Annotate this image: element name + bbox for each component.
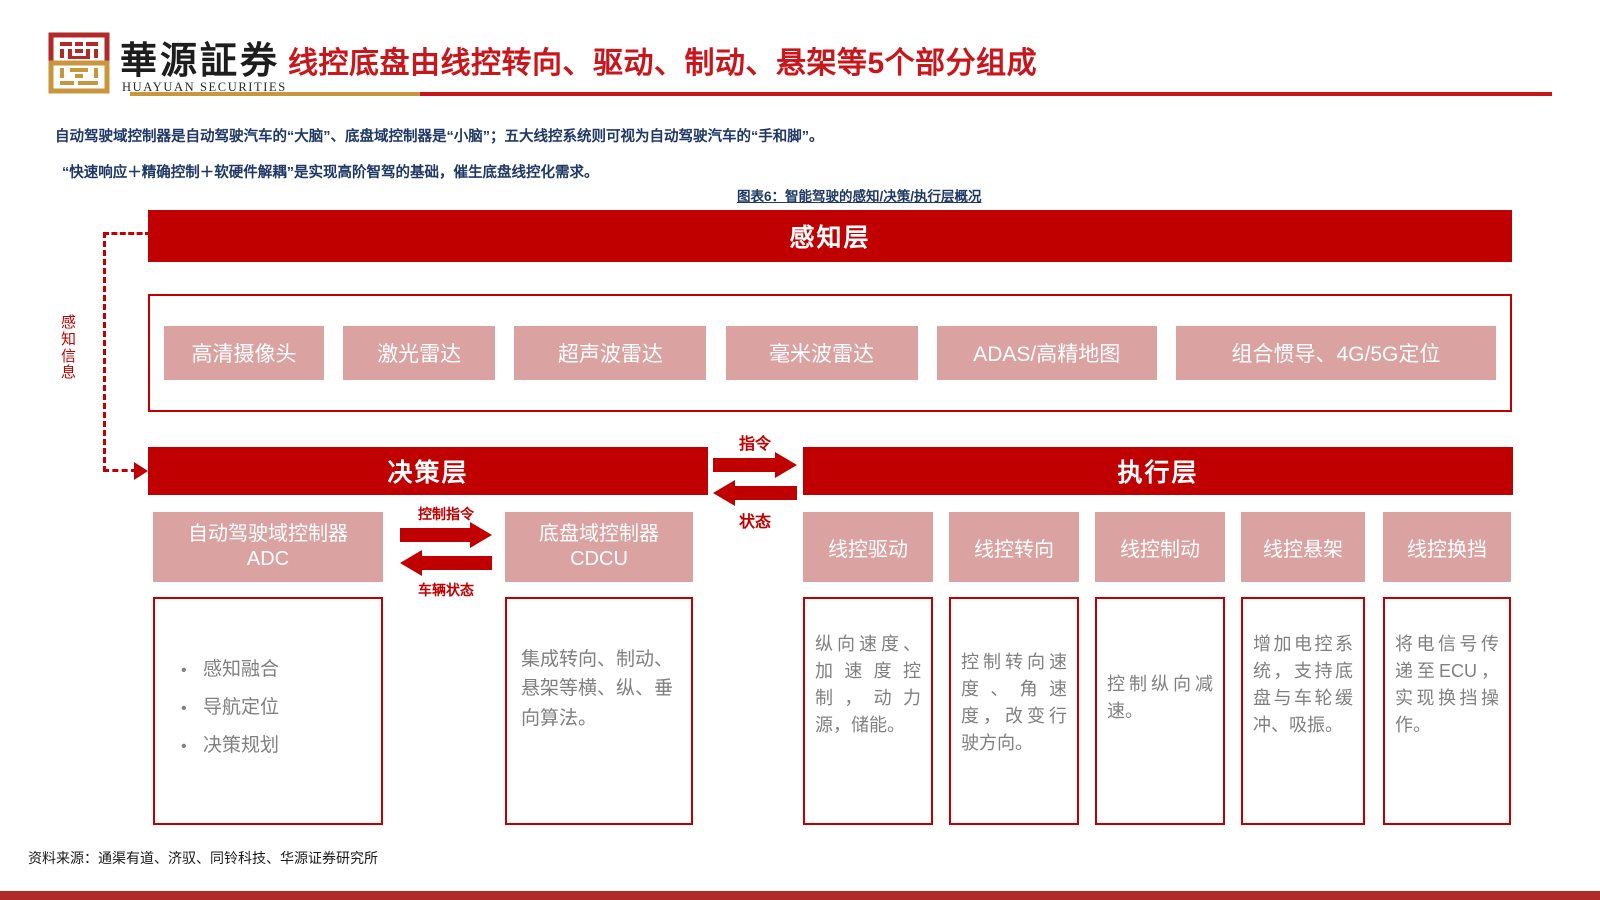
decision-execution-arrow-group: 指令 状态	[713, 452, 797, 510]
bidirectional-arrow-icon	[400, 522, 492, 580]
exec-item-shifting: 线控换挡	[1383, 512, 1511, 582]
feedback-dash-top	[103, 232, 151, 235]
adc-controller-box: 自动驾驶域控制器 ADC	[153, 512, 383, 582]
footer-accent-bar	[0, 891, 1600, 900]
source-note: 资料来源：通渠有道、济驭、同铃科技、华源证券研究所	[28, 848, 378, 868]
adc-bullet-list: 感知融合 导航定位 决策规划	[181, 651, 279, 765]
exec-item-steering: 线控转向	[949, 512, 1079, 582]
bidirectional-arrow-icon	[713, 452, 797, 508]
cdcu-controller-box: 底盘域控制器 CDCU	[505, 512, 693, 582]
cdcu-code: CDCU	[570, 547, 628, 572]
vehicle-status-label: 车辆状态	[400, 580, 492, 600]
list-item: 决策规划	[181, 727, 279, 765]
sensor-item-ultrasonic-radar: 超声波雷达	[514, 326, 706, 380]
perception-sensor-frame: 高清摄像头 激光雷达 超声波雷达 毫米波雷达 ADAS/高精地图 组合惯导、4G…	[148, 294, 1512, 412]
control-command-label: 控制指令	[400, 504, 492, 524]
adc-name: 自动驾驶域控制器	[188, 522, 348, 547]
architecture-diagram: 感知信息 感知层 高清摄像头 激光雷达 超声波雷达 毫米波雷达 ADAS/高精地…	[0, 0, 1600, 900]
exec-description: 增加电控系统，支持底盘与车轮缓冲、吸振。	[1253, 631, 1353, 739]
cdcu-name: 底盘域控制器	[539, 522, 659, 547]
sensor-item-adas-hdmap: ADAS/高精地图	[937, 326, 1157, 380]
cdcu-description: 集成转向、制动、悬架等横、纵、垂向算法。	[521, 645, 681, 733]
exec-detail-shifting: 将电信号传递至ECU，实现换挡操作。	[1383, 597, 1511, 825]
exec-description: 将电信号传递至ECU，实现换挡操作。	[1395, 631, 1499, 739]
exec-detail-steering: 控制转向速度、角速度，改变行驶方向。	[949, 597, 1079, 825]
feedback-dash-bottom	[103, 469, 137, 472]
perception-layer-band: 感知层	[148, 210, 1512, 262]
feedback-label: 感知信息	[58, 315, 80, 382]
status-label: 状态	[713, 508, 797, 532]
list-item: 导航定位	[181, 689, 279, 727]
exec-item-braking: 线控制动	[1095, 512, 1225, 582]
feedback-dash-vertical	[103, 232, 106, 472]
sensor-item-mmwave-radar: 毫米波雷达	[726, 326, 918, 380]
execution-layer-band: 执行层	[803, 447, 1513, 495]
exec-detail-drive: 纵向速度、加速度控制，动力源，储能。	[803, 597, 933, 825]
exec-description: 控制转向速度、角速度，改变行驶方向。	[961, 649, 1067, 757]
sensor-item-lidar: 激光雷达	[343, 326, 495, 380]
exec-item-drive: 线控驱动	[803, 512, 933, 582]
command-label: 指令	[713, 430, 797, 454]
exec-detail-braking: 控制纵向减速。	[1095, 597, 1225, 825]
adc-cdcu-arrow-group: 控制指令 车辆状态	[400, 522, 492, 582]
adc-code: ADC	[247, 547, 289, 572]
exec-description: 纵向速度、加速度控制，动力源，储能。	[815, 631, 921, 739]
feedback-arrow-icon	[134, 462, 148, 480]
exec-description: 控制纵向减速。	[1107, 671, 1213, 725]
exec-detail-suspension: 增加电控系统，支持底盘与车轮缓冲、吸振。	[1241, 597, 1365, 825]
decision-layer-band: 决策层	[148, 447, 708, 495]
adc-detail-box: 感知融合 导航定位 决策规划	[153, 597, 383, 825]
exec-item-suspension: 线控悬架	[1241, 512, 1365, 582]
sensor-item-camera: 高清摄像头	[164, 326, 324, 380]
list-item: 感知融合	[181, 651, 279, 689]
sensor-item-ins-positioning: 组合惯导、4G/5G定位	[1176, 326, 1496, 380]
cdcu-detail-box: 集成转向、制动、悬架等横、纵、垂向算法。	[505, 597, 693, 825]
